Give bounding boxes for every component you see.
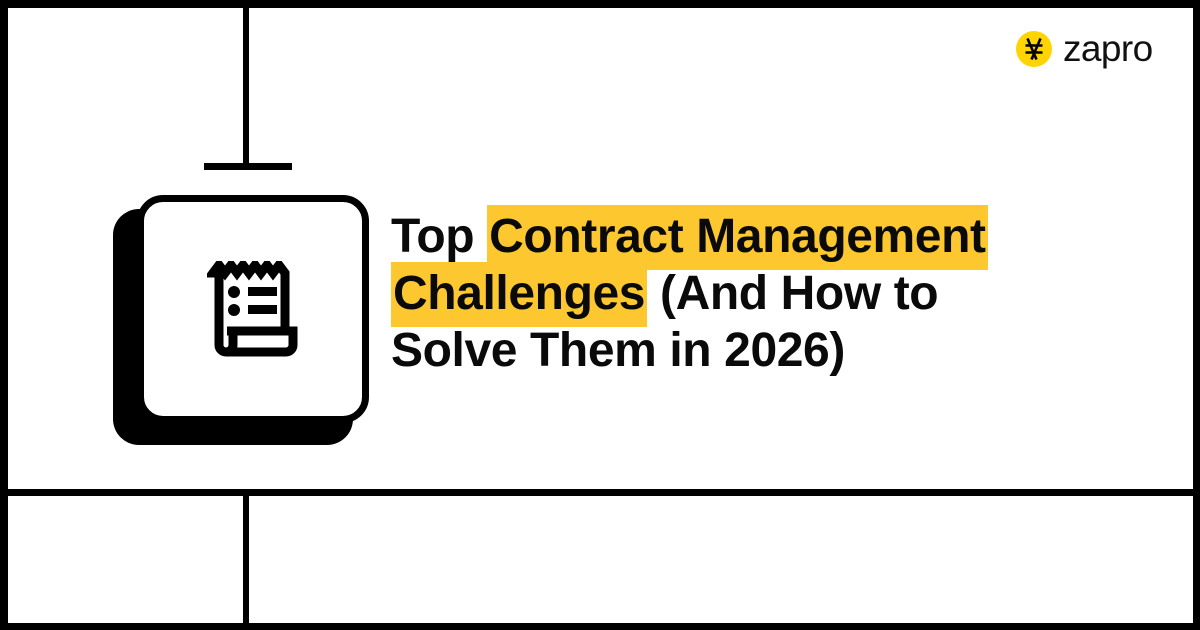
zapro-logo-mark-icon xyxy=(1016,31,1052,67)
receipt-list-icon xyxy=(207,261,299,357)
frame-left-border xyxy=(0,0,8,630)
headline-line-3: Solve Them in 2026) xyxy=(391,322,1071,379)
headline-line-1-plain: Top xyxy=(391,210,487,263)
headline-line-2-highlight: Challenges xyxy=(391,262,647,327)
frame-right-border xyxy=(1193,0,1200,630)
brand-wordmark: zapro xyxy=(1063,30,1153,67)
hanging-sign-bracket-bar xyxy=(204,163,292,170)
frame-top-border xyxy=(0,0,1200,8)
frame-bottom-border xyxy=(0,623,1200,630)
banner-canvas: Top Contract Management Challenges (And … xyxy=(0,0,1200,630)
headline-line-1: Top Contract Management xyxy=(391,208,1071,265)
card-face xyxy=(137,195,369,423)
hanging-sign-bracket-stem xyxy=(243,0,249,166)
horizontal-divider xyxy=(0,489,1200,496)
headline-line-1-highlight: Contract Management xyxy=(487,205,987,270)
vertical-divider-lower xyxy=(243,489,249,630)
headline-line-2-plain: (And How to xyxy=(647,267,938,320)
contract-document-card xyxy=(113,195,378,445)
headline-line-3-plain: Solve Them in 2026) xyxy=(391,324,845,377)
page-title: Top Contract Management Challenges (And … xyxy=(391,208,1071,379)
brand-logo[interactable]: zapro xyxy=(1016,30,1153,67)
headline-line-2: Challenges (And How to xyxy=(391,265,1071,322)
